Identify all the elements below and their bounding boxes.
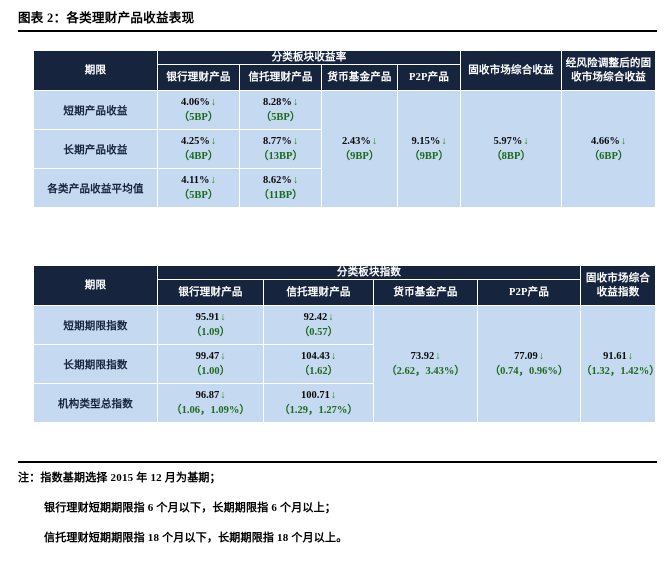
cell-value: 99.47	[196, 351, 220, 362]
cell-delta: （5BP）	[158, 110, 239, 126]
cell-delta: （5BP）	[240, 110, 321, 126]
table2-header-composite-index: 固收市场综合收益指数	[581, 266, 656, 306]
table2-header-period: 期限	[34, 266, 158, 306]
arrow-down-icon: ↓	[292, 175, 298, 186]
table2-row-label-long: 长期期限指数	[34, 345, 158, 384]
table2-subheader-trust: 信托理财产品	[264, 280, 374, 306]
table1-header-composite-yield: 固收市场综合收益	[461, 51, 562, 91]
cell-delta: （11BP）	[240, 188, 321, 204]
arrow-down-icon: ↓	[522, 136, 528, 147]
table1-cell-avg-bank: 4.11%↓ （5BP）	[158, 169, 240, 208]
cell-value: 96.87	[196, 390, 220, 401]
arrow-down-icon: ↓	[330, 351, 336, 362]
table2-cell-money-fund: 73.92↓ （2.62，3.43%）	[374, 306, 478, 423]
cell-value: 9.15%	[411, 136, 440, 147]
table1-cell-risk-adjusted: 4.66%↓ （6BP）	[562, 91, 656, 208]
table1-row-label-short: 短期产品收益	[34, 91, 158, 130]
table-row: 短期期限指数 95.91↓ （1.09） 92.42↓ （0.57） 73.92…	[34, 306, 656, 345]
table2-header-group: 分类板块指数	[158, 266, 581, 280]
cell-value: 95.91	[196, 312, 220, 323]
cell-delta: （2.62，3.43%）	[374, 364, 477, 380]
page-title: 图表 2：各类理财产品收益表现	[0, 0, 671, 30]
arrow-down-icon: ↓	[219, 351, 225, 362]
table1-header-period: 期限	[34, 51, 158, 91]
cell-delta: （9BP）	[322, 149, 397, 165]
title-divider	[18, 30, 657, 32]
arrow-down-icon: ↓	[327, 312, 333, 323]
table2-cell-short-trust: 92.42↓ （0.57）	[264, 306, 374, 345]
cell-delta: （8BP）	[461, 149, 561, 165]
table2-subheader-bank: 银行理财产品	[158, 280, 264, 306]
cell-value: 4.66%	[591, 136, 620, 147]
cell-value: 92.42	[304, 312, 328, 323]
table2-cell-long-bank: 99.47↓ （1.00）	[158, 345, 264, 384]
cell-delta: （1.00）	[158, 364, 263, 380]
footer-divider	[18, 461, 657, 463]
table1-cell-long-trust: 8.77%↓ （13BP）	[240, 130, 322, 169]
note-line-2: 银行理财短期期限指 6 个月以下，长期期限指 6 个月以上；	[18, 503, 658, 514]
arrow-down-icon: ↓	[330, 390, 336, 401]
table1-cell-money-fund: 2.43%↓ （9BP）	[322, 91, 398, 208]
cell-delta: （0.57）	[264, 325, 373, 341]
cell-value: 4.25%	[181, 136, 210, 147]
table1-cell-long-bank: 4.25%↓ （4BP）	[158, 130, 240, 169]
cell-delta: （6BP）	[562, 149, 655, 165]
arrow-down-icon: ↓	[371, 136, 377, 147]
cell-value: 8.77%	[263, 136, 292, 147]
table2-cell-p2p: 77.09↓ （0.74，0.96%）	[478, 306, 581, 423]
cell-delta: （1.62）	[264, 364, 373, 380]
table1-cell-short-bank: 4.06%↓ （5BP）	[158, 91, 240, 130]
cell-value: 5.97%	[493, 136, 522, 147]
table1-row-label-average: 各类产品收益平均值	[34, 169, 158, 208]
table1-header-group: 分类板块收益率	[158, 51, 461, 65]
cell-value: 8.62%	[263, 175, 292, 186]
arrow-down-icon: ↓	[210, 136, 216, 147]
yield-performance-table: 期限 分类板块收益率 固收市场综合收益 经风险调整后的固收市场综合收益 银行理财…	[33, 50, 656, 208]
cell-delta: （1.09）	[158, 325, 263, 341]
cell-delta: （5BP）	[158, 188, 239, 204]
table-row: 短期产品收益 4.06%↓ （5BP） 8.28%↓ （5BP） 2.43%↓ …	[34, 91, 656, 130]
table2-cell-total-trust: 100.71↓ （1.29，1.27%）	[264, 384, 374, 423]
arrow-down-icon: ↓	[538, 351, 544, 362]
cell-delta: （4BP）	[158, 149, 239, 165]
chart-title-block: 图表 2：各类理财产品收益表现	[0, 0, 671, 32]
cell-value: 100.71	[301, 390, 330, 401]
arrow-down-icon: ↓	[292, 97, 298, 108]
arrow-down-icon: ↓	[620, 136, 626, 147]
note-line-1: 注：指数基期选择 2015 年 12 月为基期；	[18, 473, 658, 484]
cell-delta: （9BP）	[398, 149, 460, 165]
table2-cell-composite-index: 91.61↓ （1.32，1.42%）	[581, 306, 656, 423]
arrow-down-icon: ↓	[292, 136, 298, 147]
arrow-down-icon: ↓	[210, 175, 216, 186]
arrow-down-icon: ↓	[210, 97, 216, 108]
table1-cell-composite: 5.97%↓ （8BP）	[461, 91, 562, 208]
cell-delta: （1.32，1.42%）	[581, 364, 655, 380]
cell-delta: （13BP）	[240, 149, 321, 165]
cell-value: 104.43	[301, 351, 330, 362]
notes-block: 注：指数基期选择 2015 年 12 月为基期； 银行理财短期期限指 6 个月以…	[18, 473, 658, 563]
index-performance-table: 期限 分类板块指数 固收市场综合收益指数 银行理财产品 信托理财产品 货币基金产…	[33, 265, 656, 423]
table1-subheader-money-fund: 货币基金产品	[322, 65, 398, 91]
cell-value: 4.06%	[181, 97, 210, 108]
cell-value: 2.43%	[342, 136, 371, 147]
table1-subheader-p2p: P2P产品	[398, 65, 461, 91]
cell-value: 4.11%	[181, 175, 209, 186]
table2-subheader-money-fund: 货币基金产品	[374, 280, 478, 306]
table2-cell-total-bank: 96.87↓ （1.06，1.09%）	[158, 384, 264, 423]
note-line-3: 信托理财短期期限指 18 个月以下，长期期限指 18 个月以上。	[18, 533, 658, 544]
table1-header-risk-adjusted-yield: 经风险调整后的固收市场综合收益	[562, 51, 656, 91]
arrow-down-icon: ↓	[627, 351, 633, 362]
table2-subheader-p2p: P2P产品	[478, 280, 581, 306]
cell-delta: （1.29，1.27%）	[264, 403, 373, 419]
cell-value: 91.61	[603, 351, 627, 362]
table2-row-label-short: 短期期限指数	[34, 306, 158, 345]
cell-delta: （1.06，1.09%）	[158, 403, 263, 419]
arrow-down-icon: ↓	[219, 312, 225, 323]
cell-delta: （0.74，0.96%）	[478, 364, 580, 380]
arrow-down-icon: ↓	[434, 351, 440, 362]
table1-cell-short-trust: 8.28%↓ （5BP）	[240, 91, 322, 130]
table2-cell-long-trust: 104.43↓ （1.62）	[264, 345, 374, 384]
cell-value: 73.92	[411, 351, 435, 362]
table2-row-label-institution-total: 机构类型总指数	[34, 384, 158, 423]
table1-subheader-trust: 信托理财产品	[240, 65, 322, 91]
table2-header-row-1: 期限 分类板块指数 固收市场综合收益指数	[34, 266, 656, 280]
arrow-down-icon: ↓	[440, 136, 446, 147]
table1-row-label-long: 长期产品收益	[34, 130, 158, 169]
table1-cell-p2p: 9.15%↓ （9BP）	[398, 91, 461, 208]
table1-header-row-1: 期限 分类板块收益率 固收市场综合收益 经风险调整后的固收市场综合收益	[34, 51, 656, 65]
table1-cell-avg-trust: 8.62%↓ （11BP）	[240, 169, 322, 208]
table1-subheader-bank: 银行理财产品	[158, 65, 240, 91]
arrow-down-icon: ↓	[219, 390, 225, 401]
cell-value: 77.09	[514, 351, 538, 362]
cell-value: 8.28%	[263, 97, 292, 108]
table2-cell-short-bank: 95.91↓ （1.09）	[158, 306, 264, 345]
